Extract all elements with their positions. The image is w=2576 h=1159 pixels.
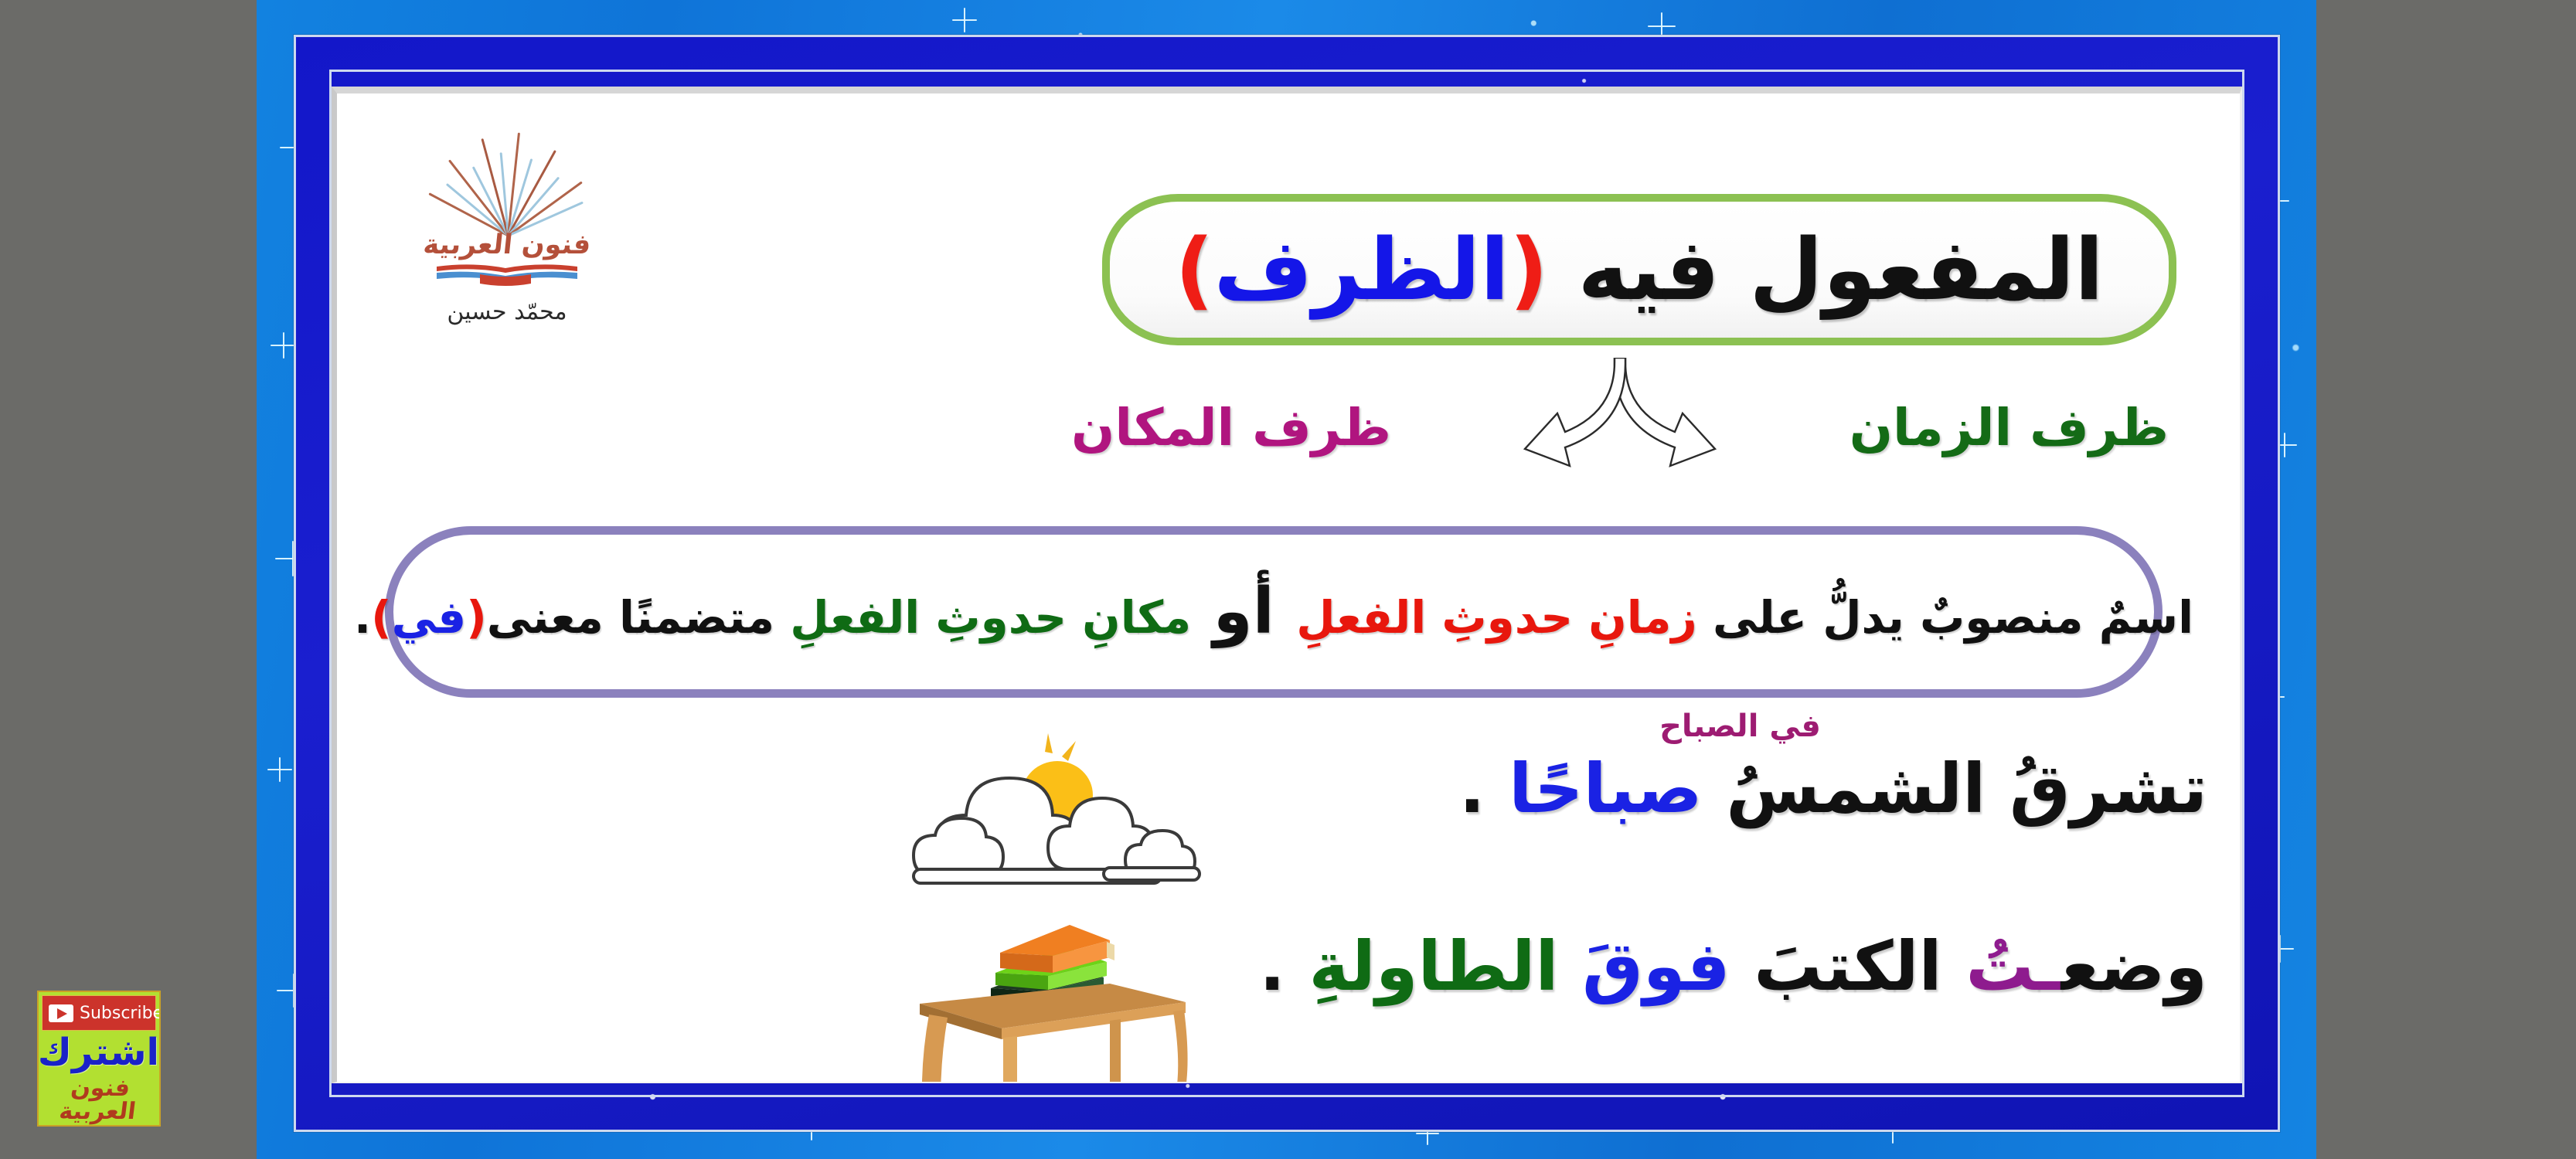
example-2-highlight-adverb: فوقَ (1582, 926, 1730, 1006)
definition-close-paren: ) (371, 591, 392, 644)
definition-part-fi: في (392, 591, 467, 644)
definition-period: . (354, 591, 371, 644)
example-2-suffix: . (1259, 926, 1308, 1006)
definition-part-1: اسمٌ منصوبٌ يدلُّ على (1697, 591, 2193, 644)
definition-part-place: مكانِ حدوثِ الفعلِ (790, 591, 1191, 644)
star-sparkle-icon (271, 332, 297, 359)
youtube-play-icon (49, 1004, 73, 1022)
clouds-sun-icon (893, 729, 1203, 899)
example-1-suffix: . (1459, 749, 1509, 828)
table-with-books-icon (878, 897, 1203, 1083)
subscribe-brand-label: فنون العربية (37, 1077, 161, 1123)
slide-content-card: فنون العربية محمّد حسين المفعول فيه (الظ… (332, 87, 2242, 1083)
example-1-annotation: في الصباح (1659, 709, 1821, 744)
branch-row: ظرف الزمان ظرف المكان (1071, 379, 2169, 495)
definition-part-5: متضمنًا معنى (487, 591, 790, 644)
slide-title-capsule: المفعول فيه (الظرف) (1102, 194, 2176, 345)
example-2-highlight-noun: الطاولةِ (1308, 926, 1582, 1006)
slide-content-body: فنون العربية محمّد حسين المفعول فيه (الظ… (337, 93, 2240, 1082)
title-plain-text: المفعول فيه (1577, 220, 2103, 319)
definition-part-or: أو (1191, 575, 1296, 648)
split-arrow-icon (1523, 358, 1717, 495)
example-row-time: في الصباح تشرقُ الشمسُ صباحًا . (368, 719, 2223, 905)
example-2-verb-black: وضع (2061, 926, 2207, 1006)
branch-label-time: ظرف الزمان (1849, 398, 2169, 457)
title-open-paren: ( (1509, 220, 1548, 319)
example-2-middle: الكتبَ (1730, 926, 1966, 1006)
open-book-icon (434, 260, 580, 290)
title-highlight-text: الظرف (1213, 220, 1509, 319)
star-sparkle-icon (952, 8, 977, 32)
example-1-sentence: تشرقُ الشمسُ صباحًا . (1459, 755, 2207, 823)
star-sparkle-icon (267, 757, 292, 782)
title-close-paren: ) (1175, 220, 1213, 319)
definition-open-paren: ( (466, 591, 487, 644)
branch-label-place: ظرف المكان (1071, 398, 1391, 457)
subscribe-button[interactable]: Subscribe (42, 995, 156, 1031)
example-row-place: وضعـتُ الكتبَ فوقَ الطاولةِ . (368, 897, 2223, 1083)
definition-text: اسمٌ منصوبٌ يدلُّ على زمانِ حدوثِ الفعلِ… (354, 579, 2193, 645)
logo-author-text: محمّد حسين (383, 298, 631, 325)
example-2-verb-suffix: ـتُ (1965, 926, 2060, 1006)
example-1-prefix: تشرقُ الشمسُ (1703, 749, 2207, 828)
slide-stage: فنون العربية محمّد حسين المفعول فيه (الظ… (0, 0, 2576, 1159)
example-1-highlight: صباحًا (1509, 749, 1702, 828)
definition-part-time: زمانِ حدوثِ الفعلِ (1296, 591, 1697, 644)
example-2-sentence: وضعـتُ الكتبَ فوقَ الطاولةِ . (1259, 933, 2207, 1001)
logo-brand-text: فنون العربية (382, 229, 632, 260)
subscribe-badge[interactable]: Subscribe اشترك فنون العربية (37, 991, 161, 1127)
sunburst-book-logo-icon: فنون العربية محمّد حسين (383, 103, 631, 327)
definition-pill: اسمٌ منصوبٌ يدلُّ على زمانِ حدوثِ الفعلِ… (385, 526, 2163, 698)
page-title: المفعول فيه (الظرف) (1175, 227, 2104, 312)
subscribe-arabic-label: اشترك (39, 1034, 159, 1071)
subscribe-button-label: Subscribe (80, 1004, 161, 1023)
